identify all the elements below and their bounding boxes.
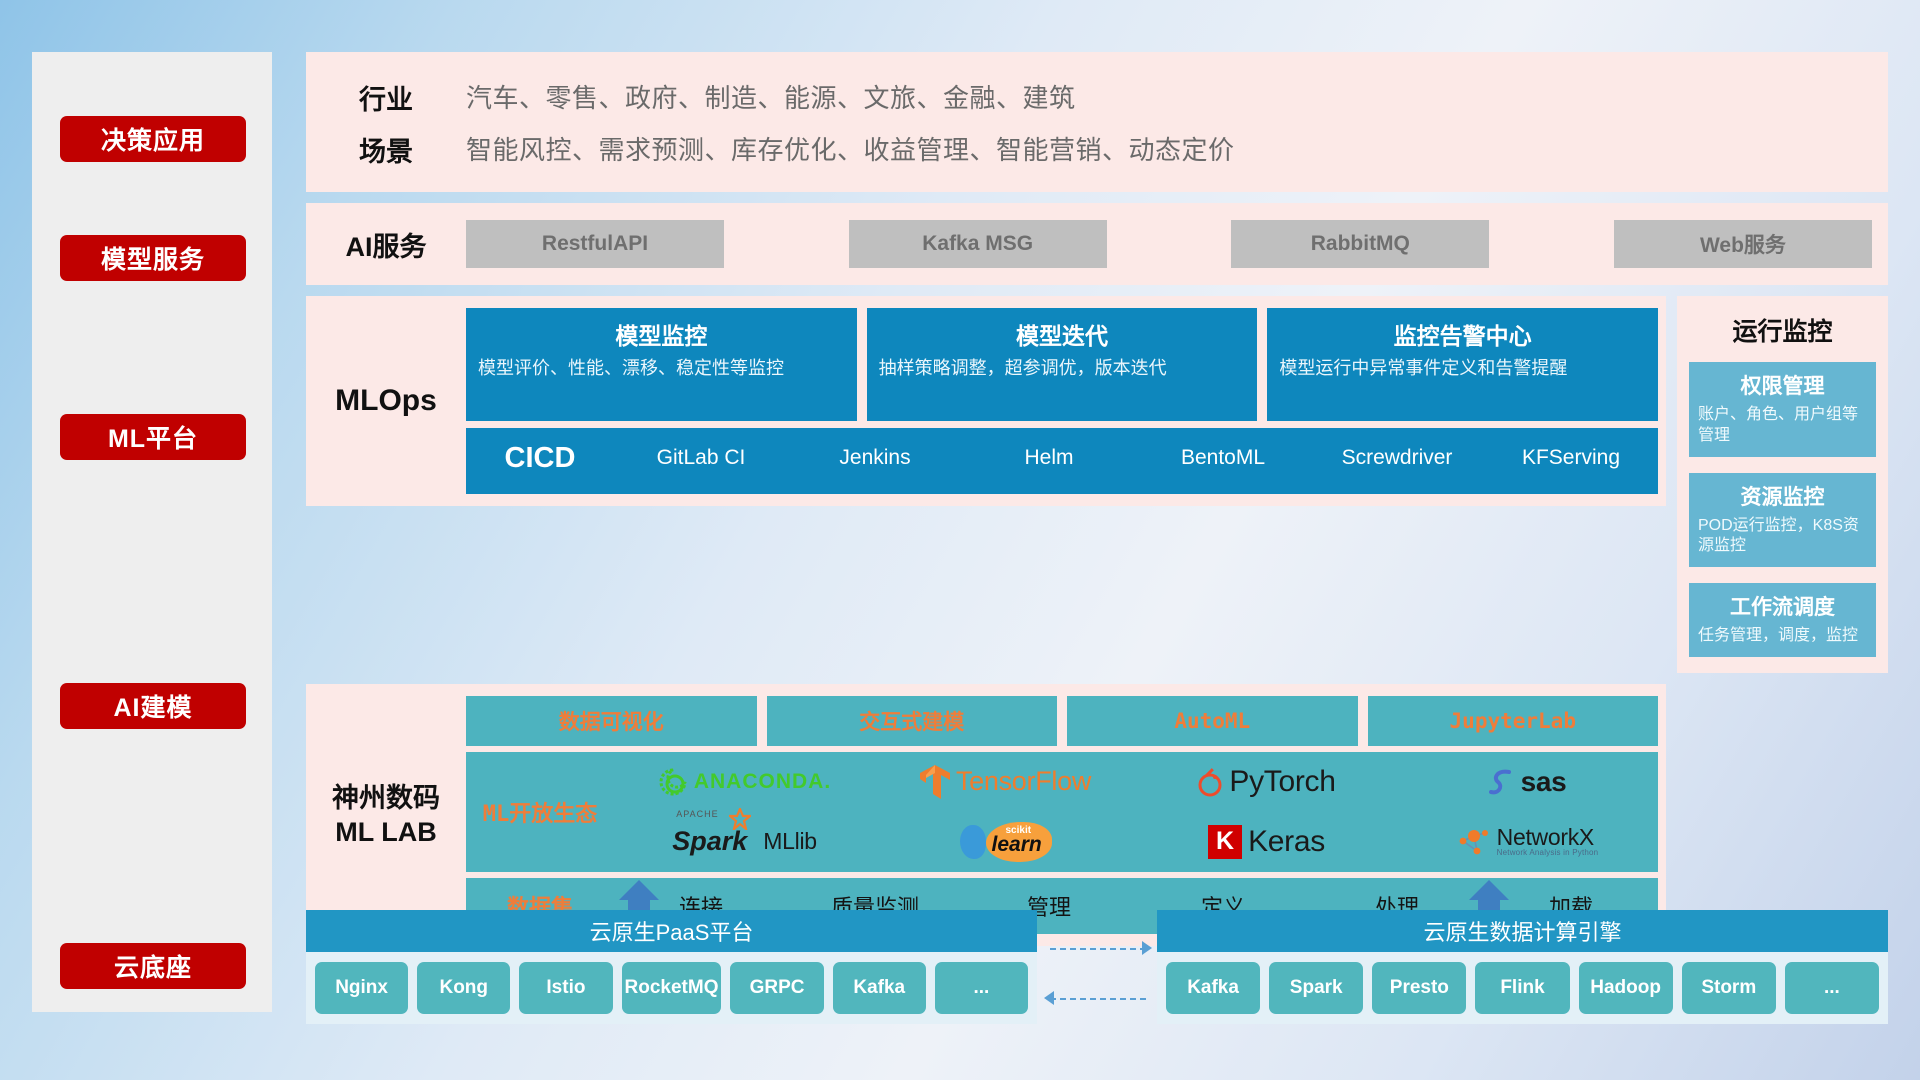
service-chip-restfulapi[interactable]: RestfulAPI — [466, 220, 724, 268]
tool-automl[interactable]: AutoML — [1067, 696, 1358, 746]
tensorflow-wordmark: TensorFlow — [956, 766, 1091, 797]
ml-ecosystem-logos: ANACONDA. TensorFlow — [614, 752, 1658, 872]
spark-wordmark: Spark — [672, 826, 747, 857]
stack-layer-sidebar: 决策应用 模型服务 ML平台 AI建模 云底座 — [32, 52, 272, 1012]
chip-rocketmq[interactable]: RocketMQ — [622, 962, 722, 1014]
keras-wordmark: Keras — [1248, 825, 1325, 859]
card-title: 模型监控 — [478, 317, 845, 351]
arrow-left-head-icon — [619, 880, 659, 900]
cloud-data-engine-block: 云原生数据计算引擎 Kafka Spark Presto Flink Hadoo… — [1157, 910, 1888, 1024]
networkx-mark-icon — [1457, 827, 1491, 857]
dashed-connector-bottom — [1050, 998, 1146, 1000]
keras-mark-icon: K — [1208, 825, 1242, 859]
sidebar-item-label: 模型服务 — [101, 240, 205, 276]
service-chip-web-service[interactable]: Web服务 — [1614, 220, 1872, 268]
dashed-connector-top — [1050, 948, 1146, 950]
card-title: 模型迭代 — [879, 317, 1246, 351]
anaconda-wordmark: ANACONDA. — [694, 770, 831, 794]
sidebar-item-ai-modeling[interactable]: AI建模 — [60, 683, 246, 729]
runtime-monitoring-panel: 运行监控 权限管理 账户、角色、用户组等管理 资源监控 POD运行监控，K8S资… — [1677, 296, 1888, 673]
card-desc: 模型运行中异常事件定义和告警提醒 — [1279, 357, 1646, 381]
mlops-key: MLOps — [306, 384, 466, 418]
monitor-card-workflow[interactable]: 工作流调度 任务管理，调度，监控 — [1689, 583, 1876, 657]
spark-star-icon — [729, 808, 751, 830]
cicd-item-kfserving[interactable]: KFServing — [1484, 428, 1658, 470]
cloud-data-engine-chips: Kafka Spark Presto Flink Hadoop Storm ..… — [1157, 952, 1888, 1024]
apache-tag: APACHE — [676, 809, 718, 819]
networkx-wordmark: NetworkX — [1497, 826, 1599, 849]
anaconda-logo: ANACONDA. — [658, 767, 831, 797]
scikit-blue-blob-icon — [960, 825, 986, 859]
cicd-item-bentoml[interactable]: BentoML — [1136, 428, 1310, 470]
sidebar-item-cloud-foundation[interactable]: 云底座 — [60, 943, 246, 989]
scenario-row: 场景 智能风控、需求预测、库存优化、收益管理、智能营销、动态定价 — [306, 130, 1888, 182]
cloud-data-engine-title: 云原生数据计算引擎 — [1157, 910, 1888, 952]
service-chip-kafka-msg[interactable]: Kafka MSG — [849, 220, 1107, 268]
service-chip-rabbitmq[interactable]: RabbitMQ — [1231, 220, 1489, 268]
card-title: 权限管理 — [1698, 370, 1867, 400]
dashed-arrow-right-icon — [1142, 941, 1152, 955]
card-desc: 模型评价、性能、漂移、稳定性等监控 — [478, 357, 845, 381]
cicd-bar: CICD GitLab CI Jenkins Helm BentoML Scre… — [466, 428, 1658, 494]
sidebar-item-label: AI建模 — [113, 688, 192, 724]
industry-row: 行业 汽车、零售、政府、制造、能源、文旅、金融、建筑 — [306, 78, 1888, 130]
scikit-learn-logo: scikit learn — [960, 822, 1052, 862]
ai-service-items: RestfulAPI Kafka MSG RabbitMQ Web服务 — [466, 220, 1888, 268]
ai-service-key: AI服务 — [306, 225, 466, 264]
sas-wordmark: sas — [1521, 766, 1567, 798]
ml-lab-key-line2: ML LAB — [306, 815, 466, 849]
tool-interactive-modeling[interactable]: 交互式建模 — [767, 696, 1058, 746]
card-desc: 账户、角色、用户组等管理 — [1698, 405, 1867, 447]
networkx-tagline: Network Analysis in Python — [1497, 849, 1599, 857]
chip-kafka-right[interactable]: Kafka — [1166, 962, 1260, 1014]
chip-flink[interactable]: Flink — [1475, 962, 1569, 1014]
industry-value: 汽车、零售、政府、制造、能源、文旅、金融、建筑 — [466, 78, 1076, 115]
cicd-item-screwdriver[interactable]: Screwdriver — [1310, 428, 1484, 470]
ml-ecosystem-label: ML开放生态 — [466, 796, 614, 828]
card-desc: 任务管理，调度，监控 — [1698, 626, 1867, 647]
ml-platform-row: MLOps 模型监控 模型评价、性能、漂移、稳定性等监控 模型迭代 抽样策略调整… — [306, 296, 1888, 673]
scenario-value: 智能风控、需求预测、库存优化、收益管理、智能营销、动态定价 — [466, 130, 1235, 167]
anaconda-mark-icon — [658, 767, 688, 797]
sas-logo: sas — [1489, 766, 1567, 798]
monitor-card-resource[interactable]: 资源监控 POD运行监控，K8S资源监控 — [1689, 473, 1876, 568]
card-desc: POD运行监控，K8S资源监控 — [1698, 516, 1867, 558]
decision-application-band: 行业 汽车、零售、政府、制造、能源、文旅、金融、建筑 场景 智能风控、需求预测、… — [306, 52, 1888, 192]
chip-more-left[interactable]: ... — [935, 962, 1028, 1014]
mlops-card-model-monitoring[interactable]: 模型监控 模型评价、性能、漂移、稳定性等监控 — [466, 308, 857, 421]
scenario-key: 场景 — [306, 130, 466, 169]
cicd-item-helm[interactable]: Helm — [962, 428, 1136, 470]
card-title: 监控告警中心 — [1279, 317, 1646, 351]
sidebar-item-model-service[interactable]: 模型服务 — [60, 235, 246, 281]
spark-mllib-logo: APACHE Spark MLlib — [672, 826, 817, 857]
cloud-foundation-row: 云原生PaaS平台 Nginx Kong Istio RocketMQ GRPC… — [306, 880, 1888, 1040]
chip-grpc[interactable]: GRPC — [730, 962, 823, 1014]
chip-nginx[interactable]: Nginx — [315, 962, 408, 1014]
sidebar-item-label: 云底座 — [114, 948, 192, 984]
learn-wordmark: learn — [992, 833, 1042, 857]
industry-key: 行业 — [306, 78, 466, 117]
arrow-right-head-icon — [1469, 880, 1509, 900]
mlops-cards: 模型监控 模型评价、性能、漂移、稳定性等监控 模型迭代 抽样策略调整，超参调优，… — [466, 308, 1658, 421]
ml-lab-key: 神州数码 ML LAB — [306, 781, 466, 849]
mllib-wordmark: MLlib — [763, 828, 816, 855]
mlops-body: 模型监控 模型评价、性能、漂移、稳定性等监控 模型迭代 抽样策略调整，超参调优，… — [466, 308, 1666, 494]
sidebar-item-decision-application[interactable]: 决策应用 — [60, 116, 246, 162]
ml-lab-key-line1: 神州数码 — [306, 781, 466, 815]
ml-ecosystem-bar: ML开放生态 ANACONDA. — [466, 752, 1658, 872]
chip-spark[interactable]: Spark — [1269, 962, 1363, 1014]
chip-more-right[interactable]: ... — [1785, 962, 1879, 1014]
cloud-paas-block: 云原生PaaS平台 Nginx Kong Istio RocketMQ GRPC… — [306, 910, 1037, 1024]
tool-data-visualization[interactable]: 数据可视化 — [466, 696, 757, 746]
ai-service-band: AI服务 RestfulAPI Kafka MSG RabbitMQ Web服务 — [306, 203, 1888, 285]
chip-hadoop[interactable]: Hadoop — [1579, 962, 1673, 1014]
cicd-label: CICD — [466, 428, 614, 475]
pytorch-logo: PyTorch — [1197, 765, 1335, 799]
keras-logo: K Keras — [1208, 825, 1325, 859]
dashed-arrow-left-icon — [1044, 991, 1054, 1005]
sidebar-item-label: 决策应用 — [101, 121, 205, 157]
pytorch-mark-icon — [1197, 767, 1223, 797]
mlops-card-alert-center[interactable]: 监控告警中心 模型运行中异常事件定义和告警提醒 — [1267, 308, 1658, 421]
card-title: 工作流调度 — [1698, 591, 1867, 621]
card-title: 资源监控 — [1698, 481, 1867, 511]
networkx-logo: NetworkX Network Analysis in Python — [1457, 826, 1599, 857]
pytorch-wordmark: PyTorch — [1229, 765, 1335, 799]
chip-kong[interactable]: Kong — [417, 962, 510, 1014]
tensorflow-mark-icon — [920, 765, 950, 799]
sas-mark-icon — [1489, 768, 1515, 796]
cicd-item-jenkins[interactable]: Jenkins — [788, 428, 962, 470]
sidebar-item-label: ML平台 — [108, 419, 198, 455]
scikit-orange-blob-icon: scikit learn — [986, 822, 1052, 862]
sidebar-item-ml-platform[interactable]: ML平台 — [60, 414, 246, 460]
chip-istio[interactable]: Istio — [519, 962, 612, 1014]
cloud-paas-title: 云原生PaaS平台 — [306, 910, 1037, 952]
chip-storm[interactable]: Storm — [1682, 962, 1776, 1014]
chip-kafka[interactable]: Kafka — [833, 962, 926, 1014]
mlops-band: MLOps 模型监控 模型评价、性能、漂移、稳定性等监控 模型迭代 抽样策略调整… — [306, 296, 1666, 506]
architecture-main-column: 行业 汽车、零售、政府、制造、能源、文旅、金融、建筑 场景 智能风控、需求预测、… — [306, 52, 1888, 946]
card-desc: 抽样策略调整，超参调优，版本迭代 — [879, 357, 1246, 381]
cloud-paas-chips: Nginx Kong Istio RocketMQ GRPC Kafka ... — [306, 952, 1037, 1024]
cicd-item-gitlab-ci[interactable]: GitLab CI — [614, 428, 788, 470]
tensorflow-logo: TensorFlow — [920, 765, 1091, 799]
chip-presto[interactable]: Presto — [1372, 962, 1466, 1014]
mlops-card-model-iteration[interactable]: 模型迭代 抽样策略调整，超参调优，版本迭代 — [867, 308, 1258, 421]
monitor-card-permission[interactable]: 权限管理 账户、角色、用户组等管理 — [1689, 362, 1876, 457]
ml-lab-tools: 数据可视化 交互式建模 AutoML JupyterLab — [466, 696, 1658, 746]
tool-jupyterlab[interactable]: JupyterLab — [1368, 696, 1659, 746]
runtime-monitoring-title: 运行监控 — [1689, 312, 1876, 348]
